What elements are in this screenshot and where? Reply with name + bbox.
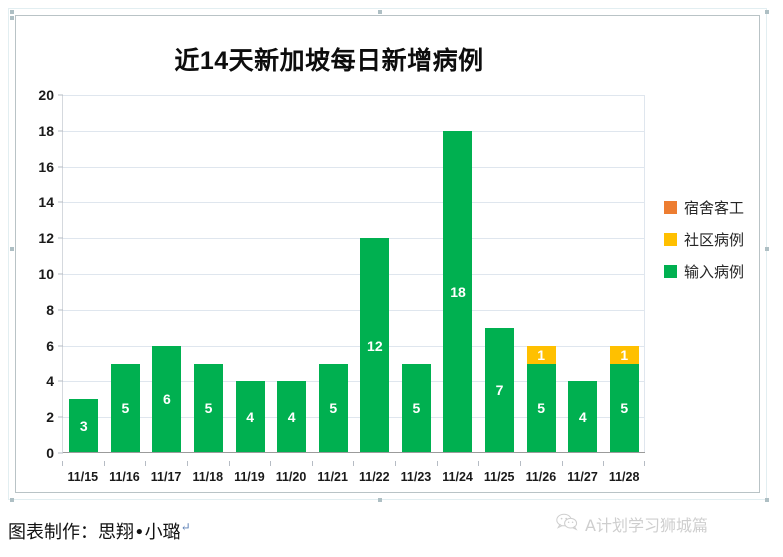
bar-stack[interactable]: 3: [69, 399, 98, 453]
x-axis-tick-mark: [312, 461, 313, 466]
plot-inner: 02468101214161820 356544512518715415: [63, 95, 645, 453]
bar-stack[interactable]: 12: [360, 238, 389, 453]
y-axis-tick-label: 16: [38, 159, 54, 175]
legend-label: 宿舍客工: [684, 197, 744, 218]
bar-group[interactable]: 15: [520, 95, 562, 453]
legend-item[interactable]: 输入病例: [664, 261, 744, 282]
y-axis-tick-label: 12: [38, 230, 54, 246]
bar-value-label: 5: [121, 401, 129, 415]
bar-stack[interactable]: 7: [485, 328, 514, 453]
bar-group[interactable]: 5: [396, 95, 438, 453]
bar-group[interactable]: 4: [271, 95, 313, 453]
bar-stack[interactable]: 5: [111, 364, 140, 454]
bar-value-label: 18: [450, 285, 466, 299]
legend-item[interactable]: 社区病例: [664, 229, 744, 250]
x-axis-tick-mark: [520, 461, 521, 466]
x-axis-tick-mark: [437, 461, 438, 466]
bar-group[interactable]: 7: [479, 95, 521, 453]
chart-credit: 图表制作：思翔•小璐↵: [8, 518, 191, 544]
paragraph-mark: ↵: [181, 520, 191, 534]
x-axis-tick-mark: [353, 461, 354, 466]
x-axis-tick-label: 11/28: [603, 461, 645, 484]
x-axis-tick-label: 11/19: [229, 461, 271, 484]
bar-value-label: 5: [537, 401, 545, 415]
bar-segment[interactable]: 4: [277, 381, 306, 453]
bar-value-label: 4: [579, 410, 587, 424]
legend-item[interactable]: 宿舍客工: [664, 197, 744, 218]
bar-value-label: 5: [329, 401, 337, 415]
bar-value-label: 4: [288, 410, 296, 424]
bar-stack[interactable]: 5: [194, 364, 223, 454]
x-axis-tick-label: 11/20: [270, 461, 312, 484]
x-axis-tick-label: 11/17: [145, 461, 187, 484]
x-axis-tick-label: 11/18: [187, 461, 229, 484]
bar-group[interactable]: 5: [105, 95, 147, 453]
x-axis-tick-mark: [562, 461, 563, 466]
x-axis-line: [63, 452, 645, 453]
bar-value-label: 4: [246, 410, 254, 424]
bar-segment[interactable]: 3: [69, 399, 98, 453]
x-axis-tick-mark: [62, 461, 63, 466]
bar-chart[interactable]: 近14天新加坡每日新增病例 02468101214161820 35654451…: [9, 9, 766, 499]
bar-group[interactable]: 5: [312, 95, 354, 453]
x-axis-tick-label: 11/26: [520, 461, 562, 484]
bar-group[interactable]: 6: [146, 95, 188, 453]
y-axis-tick-label: 18: [38, 123, 54, 139]
x-axis-tick-label: 11/22: [353, 461, 395, 484]
wechat-icon: [556, 513, 578, 536]
watermark-text: A计划学习狮城篇: [585, 512, 708, 536]
y-axis-tick-label: 10: [38, 266, 54, 282]
x-axis-labels: 11/1511/1611/1711/1811/1911/2011/2111/22…: [62, 461, 645, 484]
x-axis-tick-mark: [644, 461, 645, 466]
bar-group[interactable]: 3: [63, 95, 105, 453]
bar-series-group: 356544512518715415: [63, 95, 645, 453]
chart-credit-text: 图表制作：思翔•小璐: [8, 522, 181, 543]
x-axis-tick-mark: [145, 461, 146, 466]
x-axis-tick-label: 11/25: [478, 461, 520, 484]
bar-stack[interactable]: 6: [152, 346, 181, 453]
bar-segment[interactable]: 5: [610, 364, 639, 454]
x-axis-tick-label: 11/23: [395, 461, 437, 484]
bar-value-label: 1: [537, 348, 545, 362]
y-axis-tick-label: 8: [46, 302, 54, 318]
bar-value-label: 5: [620, 401, 628, 415]
bar-group[interactable]: 12: [354, 95, 396, 453]
bar-stack[interactable]: 5: [402, 364, 431, 454]
x-axis-tick-mark: [395, 461, 396, 466]
bar-segment[interactable]: 7: [485, 328, 514, 453]
bar-segment[interactable]: 5: [319, 364, 348, 454]
bar-group[interactable]: 18: [437, 95, 479, 453]
bar-stack[interactable]: 15: [610, 346, 639, 453]
bar-segment[interactable]: 18: [443, 131, 472, 453]
x-axis-tick-mark: [104, 461, 105, 466]
bar-stack[interactable]: 4: [236, 381, 265, 453]
bar-value-label: 6: [163, 392, 171, 406]
x-axis-tick-label: 11/15: [62, 461, 104, 484]
bar-segment[interactable]: 5: [527, 364, 556, 454]
bar-stack[interactable]: 15: [527, 346, 556, 453]
chart-legend[interactable]: 宿舍客工社区病例输入病例: [664, 197, 744, 282]
bar-segment[interactable]: 5: [402, 364, 431, 454]
x-axis-tick-label: 11/16: [104, 461, 146, 484]
bar-stack[interactable]: 4: [277, 381, 306, 453]
legend-label: 输入病例: [684, 261, 744, 282]
watermark: A计划学习狮城篇: [556, 512, 708, 536]
y-axis-tick-label: 2: [46, 409, 54, 425]
bar-segment[interactable]: 4: [236, 381, 265, 453]
x-axis-tick-label: 11/21: [312, 461, 354, 484]
y-axis-tick-label: 0: [46, 445, 54, 461]
legend-label: 社区病例: [684, 229, 744, 250]
bar-stack[interactable]: 18: [443, 131, 472, 453]
x-axis-tick-label: 11/27: [562, 461, 604, 484]
bar-segment[interactable]: 1: [527, 346, 556, 364]
y-axis-tick-label: 6: [46, 338, 54, 354]
y-axis-tick-label: 14: [38, 194, 54, 210]
legend-swatch: [664, 233, 677, 246]
x-axis-tick-mark: [270, 461, 271, 466]
bar-group[interactable]: 4: [562, 95, 604, 453]
plot-area: 02468101214161820 356544512518715415: [62, 95, 645, 453]
bar-group[interactable]: 15: [604, 95, 646, 453]
bar-segment[interactable]: 6: [152, 346, 181, 453]
bar-stack[interactable]: 5: [319, 364, 348, 454]
legend-swatch: [664, 265, 677, 278]
x-axis-tick-mark: [478, 461, 479, 466]
bar-value-label: 5: [205, 401, 213, 415]
bar-value-label: 1: [620, 348, 628, 362]
bar-value-label: 7: [496, 383, 504, 397]
y-axis-tick-label: 20: [38, 87, 54, 103]
bar-group[interactable]: 5: [188, 95, 230, 453]
bar-segment[interactable]: 4: [568, 381, 597, 453]
x-axis-tick-mark: [187, 461, 188, 466]
bar-group[interactable]: 4: [229, 95, 271, 453]
bar-segment[interactable]: 5: [111, 364, 140, 454]
y-axis-tick-label: 4: [46, 373, 54, 389]
bar-value-label: 12: [367, 339, 383, 353]
x-axis-tick-mark: [229, 461, 230, 466]
bar-segment[interactable]: 1: [610, 346, 639, 364]
legend-swatch: [664, 201, 677, 214]
bar-value-label: 5: [413, 401, 421, 415]
bar-value-label: 3: [80, 419, 88, 433]
x-axis-tick-label: 11/24: [437, 461, 479, 484]
bar-stack[interactable]: 4: [568, 381, 597, 453]
bar-segment[interactable]: 12: [360, 238, 389, 453]
x-axis-tick-mark: [603, 461, 604, 466]
chart-title: 近14天新加坡每日新增病例: [9, 41, 649, 77]
bar-segment[interactable]: 5: [194, 364, 223, 454]
